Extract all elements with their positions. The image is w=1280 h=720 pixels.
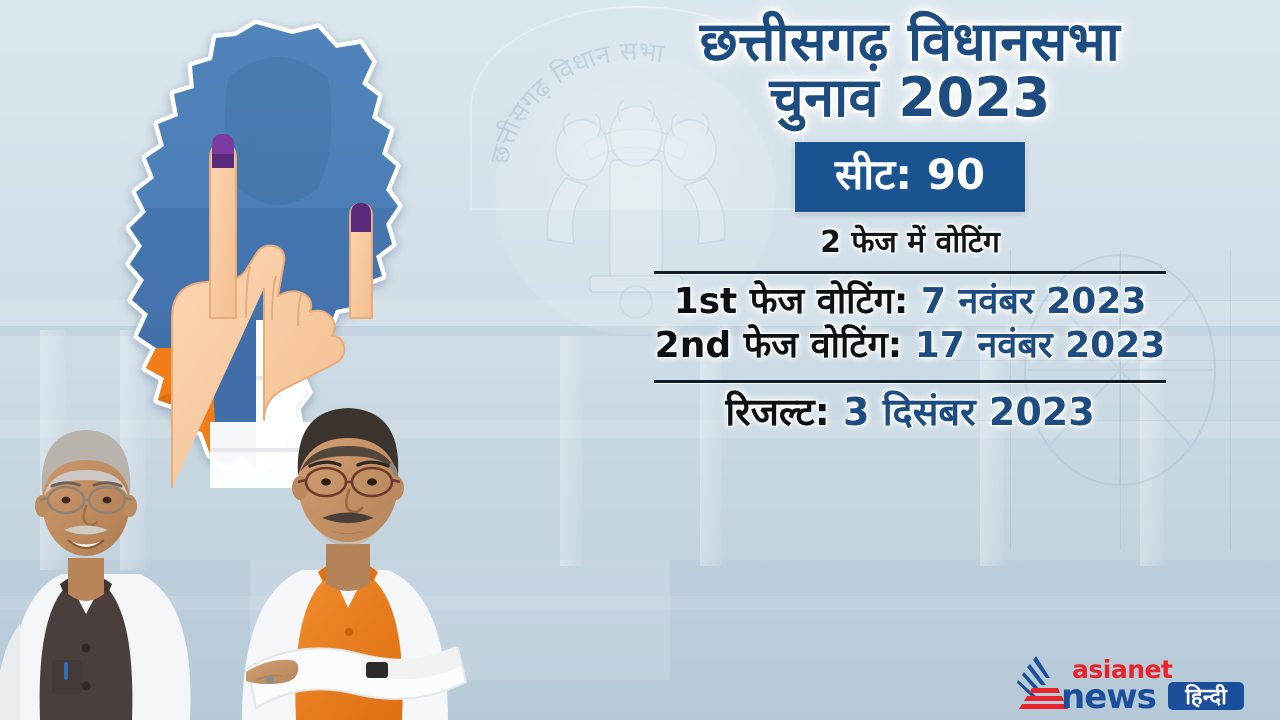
leader-right-portrait [218, 380, 518, 720]
phase-1-row: 1st फेज वोटिंग: 7 नवंबर 2023 [560, 280, 1260, 324]
second-inked-finger-icon [350, 203, 372, 318]
divider-top [654, 271, 1166, 274]
logo-hindi-badge-text: हिन्दी [1184, 683, 1228, 710]
result-label: रिजल्ट: [725, 390, 830, 434]
phase-1-label: 1st फेज वोटिंग: [674, 281, 909, 322]
phase-summary-text: 2 फेज में वोटिंग [560, 226, 1260, 259]
result-row: रिजल्ट: 3 दिसंबर 2023 [560, 389, 1260, 435]
divider-bottom [654, 380, 1166, 383]
title-line-1: छत्तीसगढ़ विधानसभा [700, 10, 1120, 73]
phase-2-label: 2nd फेज वोटिंग: [655, 325, 902, 366]
phase-2-row: 2nd फेज वोटिंग: 17 नवंबर 2023 [560, 324, 1260, 368]
result-date: 3 दिसंबर 2023 [843, 390, 1095, 434]
title-line-2: चुनाव 2023 [568, 70, 1252, 126]
phase-1-date: 7 नवंबर 2023 [921, 281, 1147, 322]
asianet-news-hindi-logo[interactable]: asianet news हिन्दी [1006, 652, 1248, 714]
logo-word-news: news [1061, 677, 1156, 714]
page-title: छत्तीसगढ़ विधानसभा चुनाव 2023 [560, 14, 1260, 126]
poster-canvas: छत्तीसगढ़ विधान सभा [0, 0, 1280, 720]
seat-count-badge: सीट: 90 [795, 142, 1025, 212]
leader-left-portrait [0, 390, 224, 720]
phase-2-date: 17 नवंबर 2023 [915, 325, 1166, 366]
election-info-panel: छत्तीसगढ़ विधानसभा चुनाव 2023 सीट: 90 2 … [560, 14, 1260, 654]
